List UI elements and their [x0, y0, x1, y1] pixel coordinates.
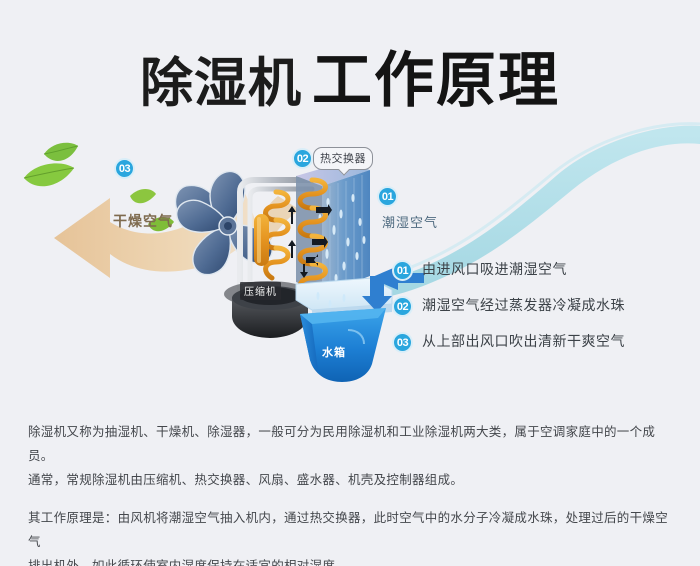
diagram-badge-03: 03 — [114, 158, 135, 179]
label-water-tank: 水箱 — [322, 344, 346, 360]
legend-list: 01 由进风口吸进潮湿空气 02 潮湿空气经过蒸发器冷凝成水珠 03 从上部出风… — [392, 258, 692, 366]
paragraph-one: 除湿机又称为抽湿机、干燥机、除湿器，一般可分为民用除湿机和工业除湿机两大类，属于… — [28, 420, 678, 492]
legend-item-01: 01 由进风口吸进潮湿空气 — [392, 258, 692, 294]
legend-label-03: 从上部出风口吹出清新干爽空气 — [422, 331, 625, 351]
legend-badge-01: 01 — [392, 260, 413, 281]
legend-badge-03: 03 — [392, 332, 413, 353]
page-title: 除湿机工作原理 — [0, 32, 700, 119]
infographic-page: 除湿机工作原理 — [0, 0, 700, 566]
accumulator-cylinder — [254, 214, 269, 266]
body-copy: 除湿机又称为抽湿机、干燥机、除湿器，一般可分为民用除湿机和工业除湿机两大类，属于… — [28, 420, 678, 566]
paragraph-one-line-two: 通常，常规除湿机由压缩机、热交换器、风扇、盛水器、机壳及控制器组成。 — [28, 468, 678, 492]
diagram-badge-02: 02 — [292, 148, 313, 169]
legend-badge-02: 02 — [392, 296, 413, 317]
label-compressor: 压缩机 — [240, 282, 281, 300]
label-heat-exchanger: 热交换器 — [313, 147, 373, 170]
title-part-one: 除湿机 — [140, 54, 302, 113]
evaporator-block — [296, 162, 370, 294]
paragraph-two-line-one: 其工作原理是：由风机将潮湿空气抽入机内，通过热交换器，此时空气中的水分子冷凝成水… — [28, 506, 678, 554]
legend-label-01: 由进风口吸进潮湿空气 — [422, 259, 567, 279]
title-part-two: 工作原理 — [312, 47, 560, 114]
paragraph-two: 其工作原理是：由风机将潮湿空气抽入机内，通过热交换器，此时空气中的水分子冷凝成水… — [28, 506, 678, 566]
legend-item-02: 02 潮湿空气经过蒸发器冷凝成水珠 — [392, 294, 692, 330]
paragraph-one-line-one: 除湿机又称为抽湿机、干燥机、除湿器，一般可分为民用除湿机和工业除湿机两大类，属于… — [28, 420, 678, 468]
legend-label-02: 潮湿空气经过蒸发器冷凝成水珠 — [422, 295, 625, 315]
legend-item-03: 03 从上部出风口吹出清新干爽空气 — [392, 330, 692, 366]
paragraph-two-line-two: 排出机外，如此循环使室内湿度保持在适宜的相对湿度。 — [28, 554, 678, 566]
diagram-badge-01: 01 — [377, 186, 398, 207]
label-dry-air: 干燥空气 — [113, 211, 173, 231]
label-humid-air: 潮湿空气 — [382, 212, 438, 231]
